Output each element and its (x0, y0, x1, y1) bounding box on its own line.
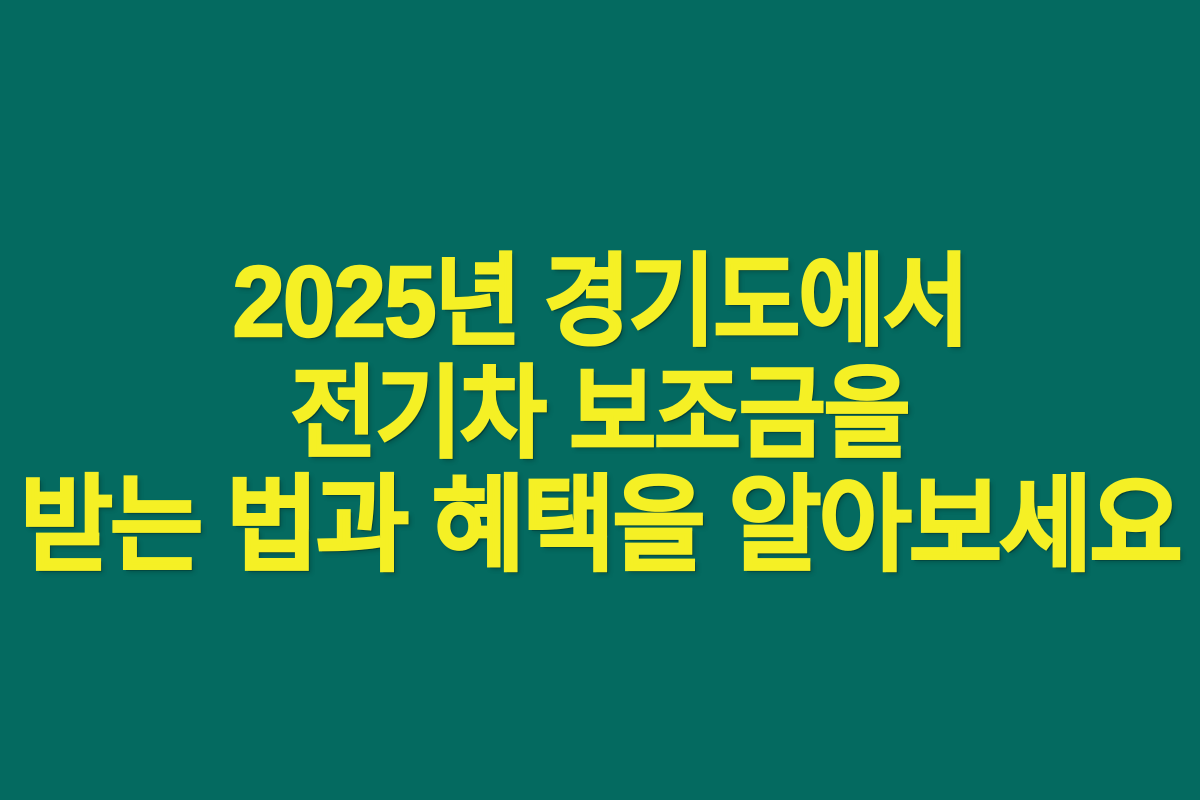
headline-line-3: 받는 법과 혜택을 알아보세요 (20, 470, 1180, 582)
headline-block: 2025년 경기도에서 전기차 보조금을 받는 법과 혜택을 알아보세요 (0, 246, 1200, 582)
thumbnail-banner: 2025년 경기도에서 전기차 보조금을 받는 법과 혜택을 알아보세요 (0, 0, 1200, 800)
headline-line-2: 전기차 보조금을 (291, 358, 909, 470)
headline-line-1: 2025년 경기도에서 (232, 246, 968, 358)
